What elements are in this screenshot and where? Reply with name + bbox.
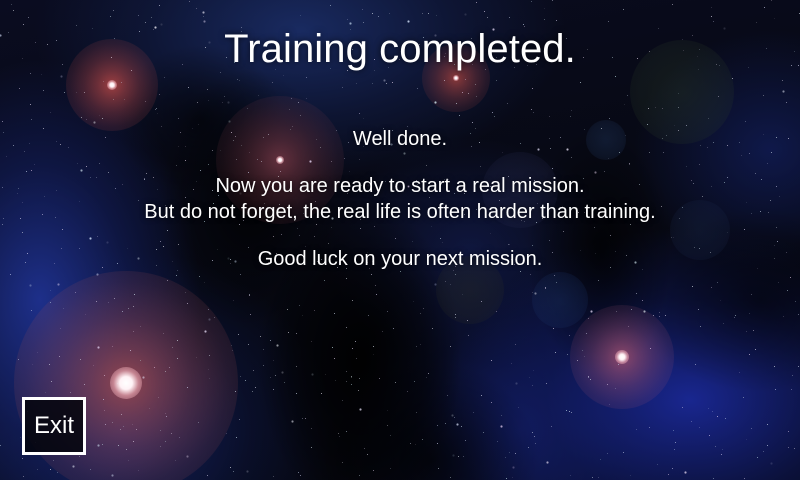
exit-button[interactable]: Exit <box>22 397 86 455</box>
game-screen: Training completed. Well done. Now you a… <box>0 0 800 480</box>
ready-line-2: But do not forget, the real life is ofte… <box>0 199 800 225</box>
good-luck-text: Good luck on your next mission. <box>0 246 800 272</box>
well-done-text: Well done. <box>0 126 800 152</box>
good-luck-line: Good luck on your next mission. <box>0 246 800 272</box>
message-panel: Training completed. Well done. Now you a… <box>0 0 800 480</box>
ready-paragraph: Now you are ready to start a real missio… <box>0 173 800 225</box>
page-title: Training completed. <box>0 26 800 72</box>
well-done-line: Well done. <box>0 126 800 152</box>
ready-line-1: Now you are ready to start a real missio… <box>0 173 800 199</box>
